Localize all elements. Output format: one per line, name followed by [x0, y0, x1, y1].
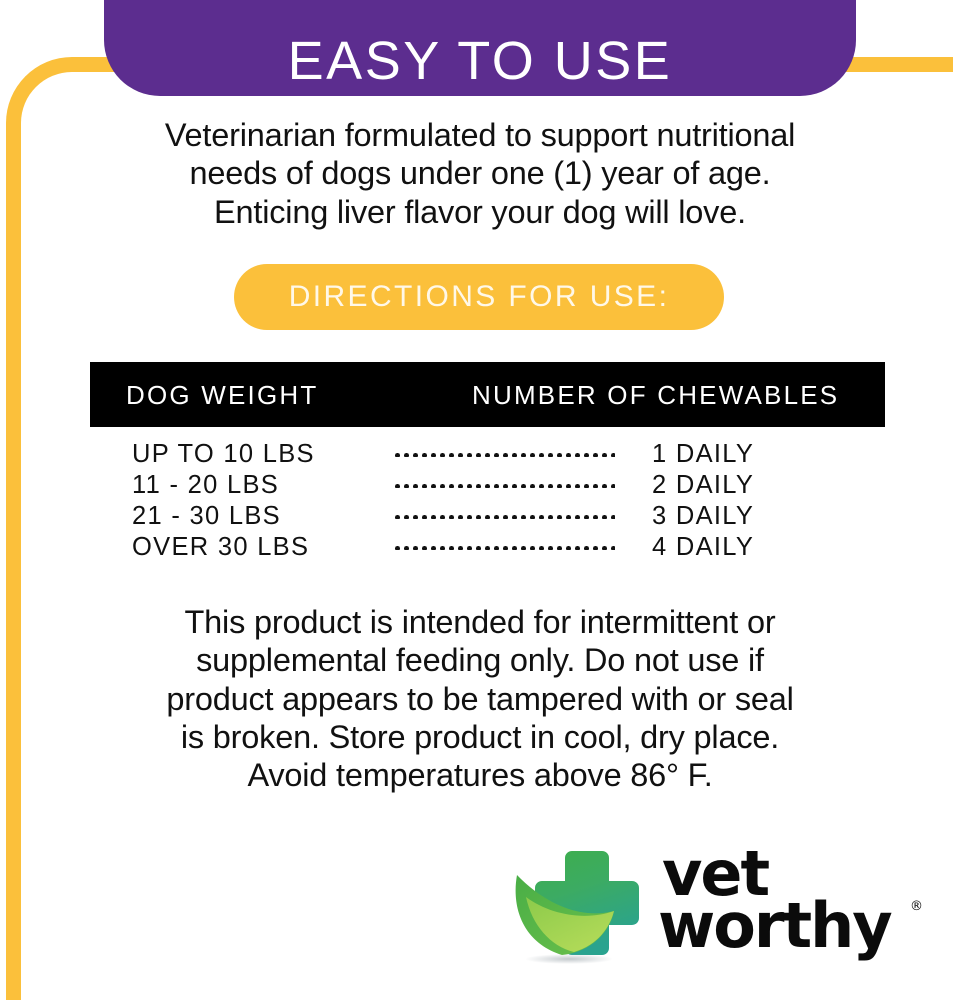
- brand-wordmark: vet worthy ®: [658, 843, 928, 968]
- dosage-table-body: UP TO 10 LBS 1 DAILY 11 - 20 LBS 2 DAILY…: [90, 440, 885, 564]
- dosage-table-header: DOG WEIGHT NUMBER OF CHEWABLES: [90, 362, 885, 427]
- cell-dog-weight: 11 - 20 LBS: [132, 471, 279, 500]
- dot-leader: [393, 544, 615, 550]
- table-row: OVER 30 LBS 4 DAILY: [90, 533, 885, 564]
- notice-line-1: This product is intended for intermitten…: [40, 603, 920, 641]
- page-title: EASY TO USE: [288, 34, 673, 88]
- dot-leader: [393, 482, 615, 488]
- cell-dog-weight: OVER 30 LBS: [132, 533, 309, 562]
- table-row: UP TO 10 LBS 1 DAILY: [90, 440, 885, 471]
- dot-leader: [393, 513, 615, 519]
- column-header-dog-weight: DOG WEIGHT: [126, 380, 318, 411]
- cross-leaf-icon: [506, 847, 651, 967]
- directions-for-use-label: DIRECTIONS FOR USE:: [289, 280, 670, 314]
- notice-line-3: product appears to be tampered with or s…: [40, 680, 920, 718]
- cell-dog-weight: UP TO 10 LBS: [132, 440, 315, 469]
- intro-paragraph: Veterinarian formulated to support nutri…: [40, 116, 920, 231]
- header-banner: EASY TO USE: [104, 0, 856, 96]
- intro-line-3: Enticing liver flavor your dog will love…: [40, 193, 920, 231]
- column-header-number-of-chewables: NUMBER OF CHEWABLES: [472, 380, 839, 411]
- brand-logo: vet worthy ®: [506, 845, 926, 970]
- cell-dog-weight: 21 - 30 LBS: [132, 502, 281, 531]
- dot-leader: [393, 451, 615, 457]
- notice-line-4: is broken. Store product in cool, dry pl…: [40, 718, 920, 756]
- notice-line-5: Avoid temperatures above 86° F.: [40, 756, 920, 794]
- cell-chewable-count: 2 DAILY: [652, 471, 754, 500]
- product-info-panel: EASY TO USE Veterinarian formulated to s…: [0, 0, 953, 1000]
- table-row: 21 - 30 LBS 3 DAILY: [90, 502, 885, 533]
- registered-trademark-icon: ®: [910, 899, 923, 914]
- cell-chewable-count: 1 DAILY: [652, 440, 754, 469]
- cell-chewable-count: 3 DAILY: [652, 502, 754, 531]
- intro-line-2: needs of dogs under one (1) year of age.: [40, 154, 920, 192]
- notice-line-2: supplemental feeding only. Do not use if: [40, 641, 920, 679]
- cell-chewable-count: 4 DAILY: [652, 533, 754, 562]
- intro-line-1: Veterinarian formulated to support nutri…: [40, 116, 920, 154]
- wordmark-worthy: worthy: [658, 895, 891, 957]
- directions-for-use-banner: DIRECTIONS FOR USE:: [234, 264, 724, 330]
- usage-notice-paragraph: This product is intended for intermitten…: [40, 603, 920, 795]
- table-row: 11 - 20 LBS 2 DAILY: [90, 471, 885, 502]
